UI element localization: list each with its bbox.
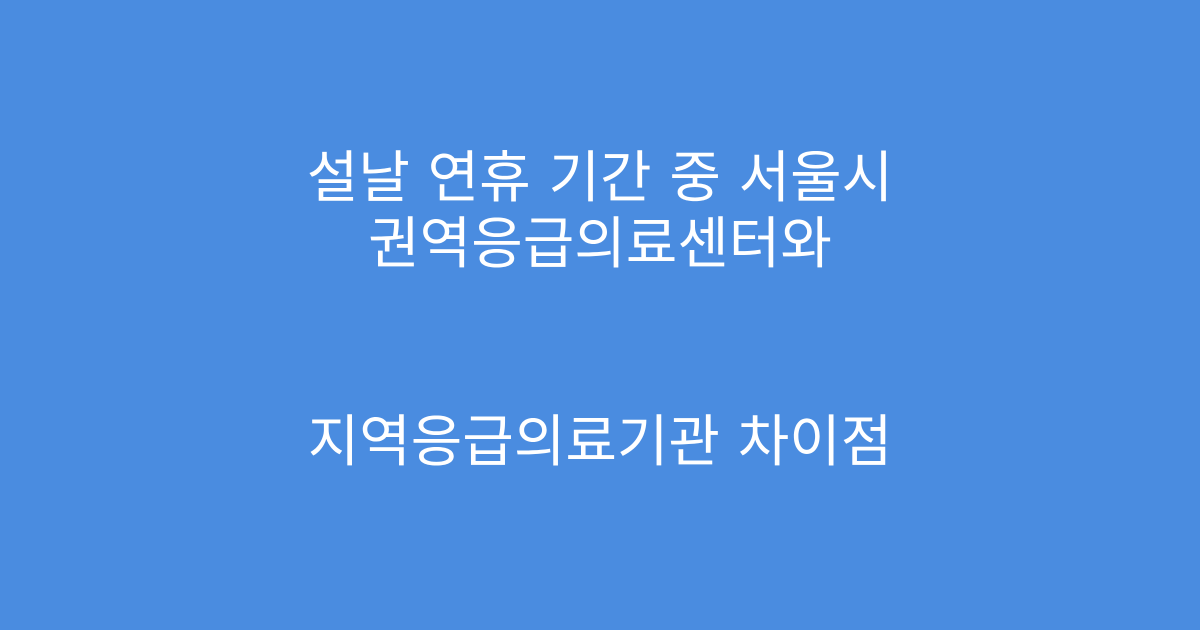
banner-canvas: 설날 연휴 기간 중 서울시 권역응급의료센터와 지역응급의료기관 차이점 [0,0,1200,630]
page-title-line-2: 지역응급의료기관 차이점 [90,410,1110,476]
page-title-line-1: 설날 연휴 기간 중 서울시 권역응급의료센터와 [90,146,1110,278]
page-title: 설날 연휴 기간 중 서울시 권역응급의료센터와 지역응급의료기관 차이점 [90,14,1110,608]
title-block: 설날 연휴 기간 중 서울시 권역응급의료센터와 지역응급의료기관 차이점 [70,14,1130,608]
